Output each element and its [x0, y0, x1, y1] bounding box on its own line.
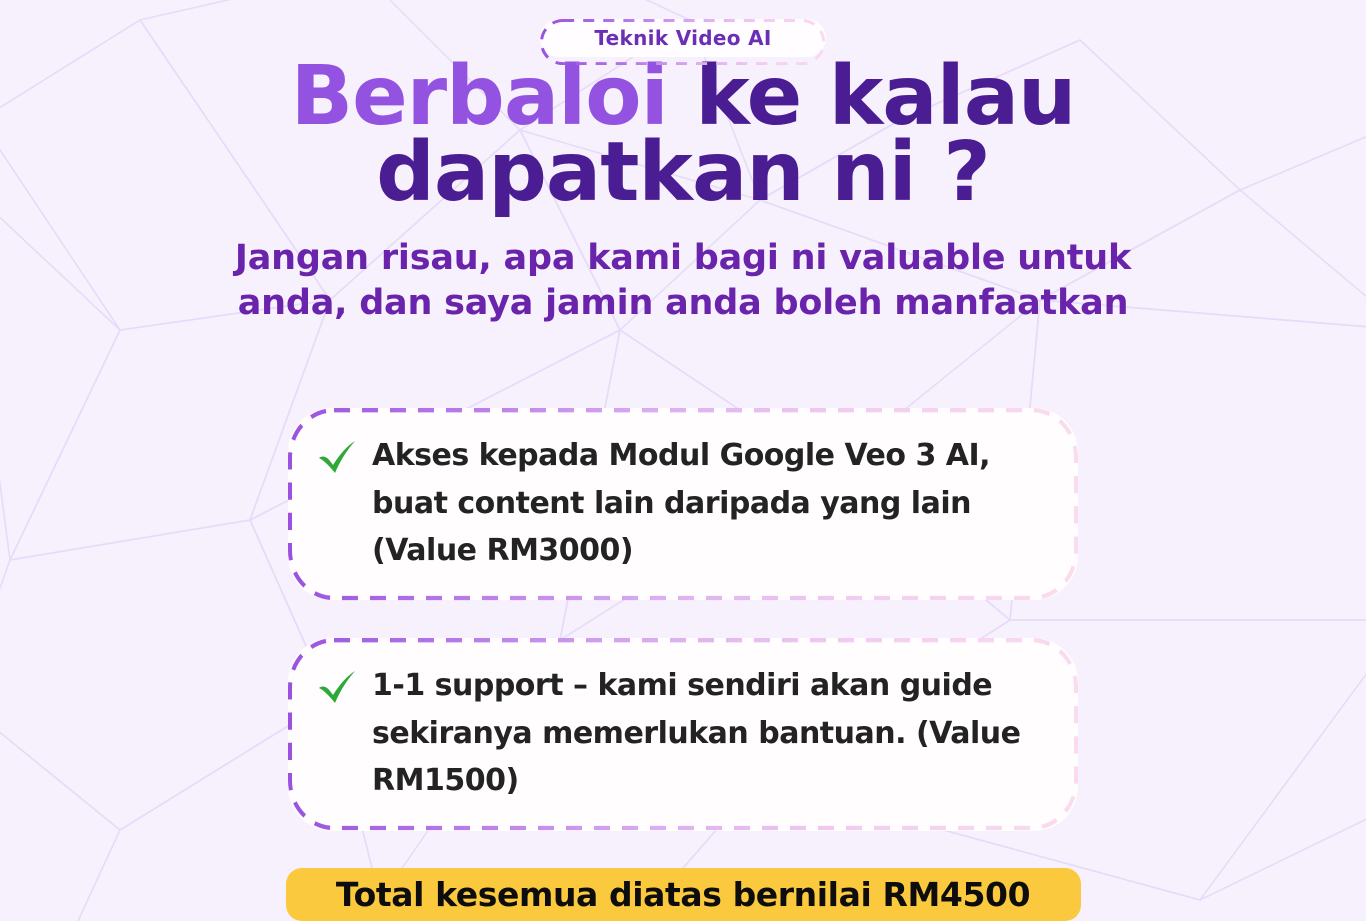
green-check-icon	[314, 434, 360, 480]
benefit-card: 1-1 support – kami sendiri akan guide se…	[288, 638, 1078, 830]
total-value-label: Total kesemua diatas bernilai RM4500	[336, 875, 1030, 914]
benefit-card-text: Akses kepada Modul Google Veo 3 AI, buat…	[372, 432, 1044, 574]
page-subtitle: Jangan risau, apa kami bagi ni valuable …	[183, 236, 1183, 325]
benefit-card-text: 1-1 support – kami sendiri akan guide se…	[372, 662, 1044, 804]
green-check-icon	[314, 664, 360, 710]
promo-page: Teknik Video AI Berbaloi ke kalau dapatk…	[0, 0, 1366, 921]
badge-label: Teknik Video AI	[594, 26, 771, 50]
benefit-card: Akses kepada Modul Google Veo 3 AI, buat…	[288, 408, 1078, 600]
total-value-banner: Total kesemua diatas bernilai RM4500	[286, 868, 1081, 921]
benefits-list: Akses kepada Modul Google Veo 3 AI, buat…	[288, 408, 1078, 830]
page-headline: Berbaloi ke kalau dapatkan ni ?	[108, 59, 1258, 210]
section-badge: Teknik Video AI	[540, 19, 825, 57]
